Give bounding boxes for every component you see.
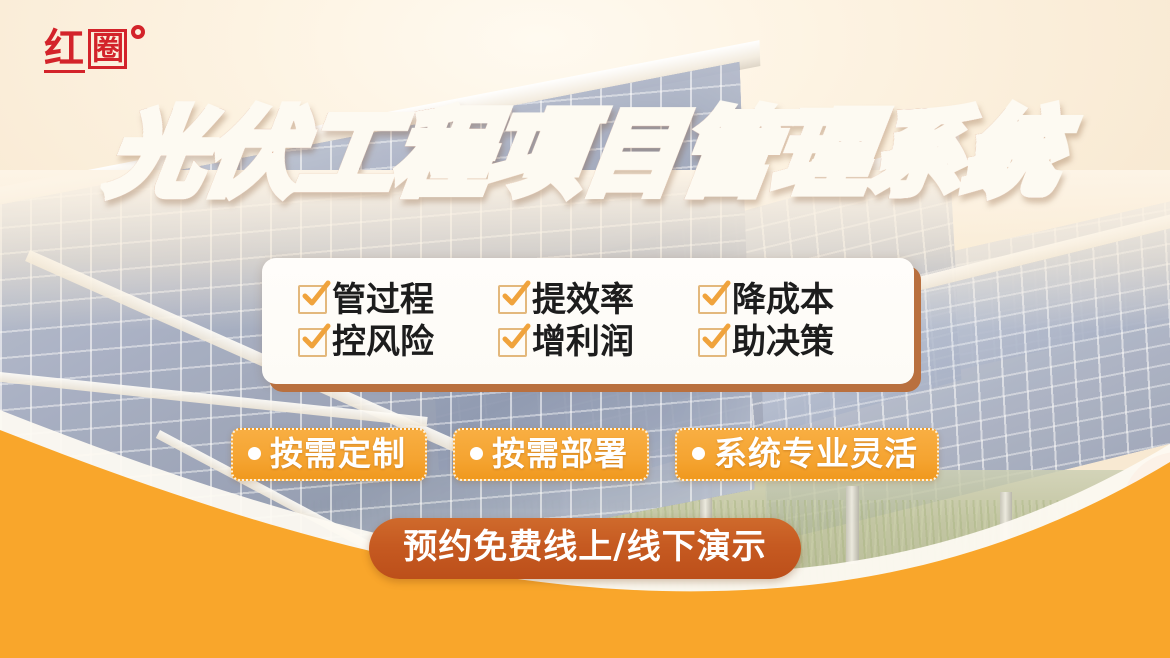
checkmark-glyph bbox=[701, 323, 731, 353]
pill-label: 按需定制 bbox=[270, 437, 406, 470]
bullet-dot-icon bbox=[692, 447, 705, 460]
brand-logo[interactable]: 红 圈 bbox=[44, 29, 145, 69]
logo-char-hong: 红 bbox=[44, 29, 85, 69]
pill-custom-on-demand[interactable]: 按需定制 bbox=[231, 428, 427, 481]
feature-row: 控风险 增利润 助决策 bbox=[282, 321, 894, 363]
feature-label: 管过程 bbox=[332, 282, 434, 318]
feature-item-jiang-cheng-ben: 降成本 bbox=[688, 282, 888, 318]
logo-wordmark: 红 圈 bbox=[44, 29, 127, 69]
feature-item-zhu-jue-ce: 助决策 bbox=[688, 324, 888, 360]
checkmark-glyph bbox=[701, 280, 731, 310]
bottom-swoosh bbox=[0, 358, 1170, 658]
checkmark-glyph bbox=[301, 323, 331, 353]
page-title-text: 光伏工程项目管理系统 bbox=[103, 108, 1066, 202]
checkmark-icon bbox=[298, 328, 327, 357]
pill-label: 系统专业灵活 bbox=[714, 437, 918, 470]
checkmark-glyph bbox=[501, 280, 531, 310]
checkmark-icon bbox=[698, 285, 727, 314]
feature-item-ti-xiao-lv: 提效率 bbox=[488, 282, 688, 318]
checkmark-icon bbox=[498, 285, 527, 314]
checkmark-icon bbox=[298, 285, 327, 314]
checkmark-glyph bbox=[501, 323, 531, 353]
pill-professional-flexible[interactable]: 系统专业灵活 bbox=[675, 428, 939, 481]
feature-benefits-card: 管过程 提效率 降成本 bbox=[262, 258, 914, 384]
checkmark-icon bbox=[498, 328, 527, 357]
highlight-pill-row: 按需定制 按需部署 系统专业灵活 bbox=[0, 428, 1170, 481]
feature-row: 管过程 提效率 降成本 bbox=[282, 279, 894, 321]
feature-label: 提效率 bbox=[532, 282, 634, 318]
cta-label: 预约免费线上/线下演示 bbox=[403, 527, 766, 567]
book-demo-button[interactable]: 预约免费线上/线下演示 bbox=[369, 518, 800, 579]
logo-char-quan: 圈 bbox=[88, 29, 127, 69]
swoosh-shape bbox=[0, 358, 1170, 658]
feature-item-guan-guo-cheng: 管过程 bbox=[288, 282, 488, 318]
checkmark-icon bbox=[698, 328, 727, 357]
feature-label: 助决策 bbox=[732, 324, 834, 360]
feature-item-kong-feng-xian: 控风险 bbox=[288, 324, 488, 360]
feature-label: 降成本 bbox=[732, 282, 834, 318]
cta-row: 预约免费线上/线下演示 bbox=[0, 518, 1170, 579]
feature-label: 增利润 bbox=[532, 324, 634, 360]
degree-circle-icon bbox=[131, 25, 145, 39]
pill-label: 按需部署 bbox=[492, 437, 628, 470]
feature-label: 控风险 bbox=[332, 324, 434, 360]
checkmark-glyph bbox=[301, 280, 331, 310]
bullet-dot-icon bbox=[470, 447, 483, 460]
page-title: 光伏工程项目管理系统 bbox=[0, 108, 1170, 202]
pill-deploy-on-demand[interactable]: 按需部署 bbox=[453, 428, 649, 481]
promo-banner: 红 圈 光伏工程项目管理系统 管过程 bbox=[0, 0, 1170, 658]
feature-item-zeng-li-run: 增利润 bbox=[488, 324, 688, 360]
bullet-dot-icon bbox=[248, 447, 261, 460]
